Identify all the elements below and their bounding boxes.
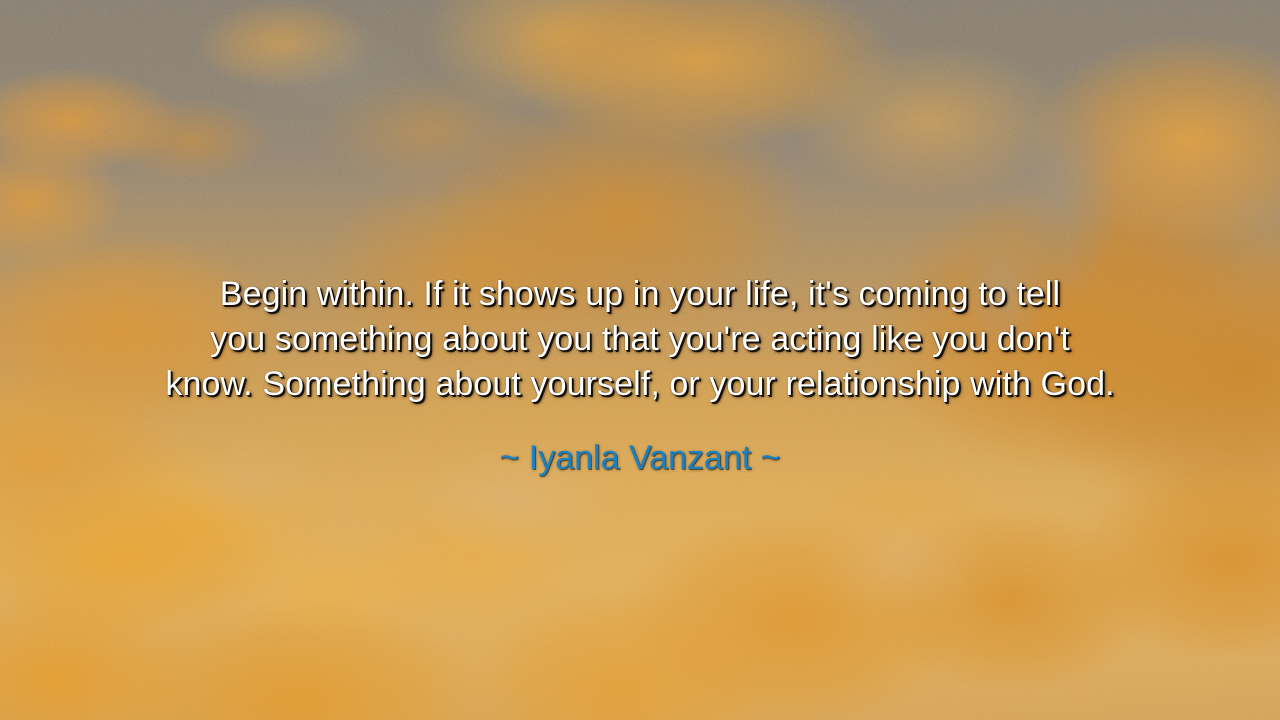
quote-wallpaper: Begin within. If it shows up in your lif… — [0, 0, 1280, 720]
quote-attribution: ~ Iyanla Vanzant ~ — [0, 436, 1280, 480]
quote-line-2: you something about you that you're acti… — [60, 317, 1220, 362]
quote-line-3: know. Something about yourself, or your … — [60, 362, 1220, 407]
quote-text-block: Begin within. If it shows up in your lif… — [0, 272, 1280, 407]
quote-line-1: Begin within. If it shows up in your lif… — [60, 272, 1220, 317]
